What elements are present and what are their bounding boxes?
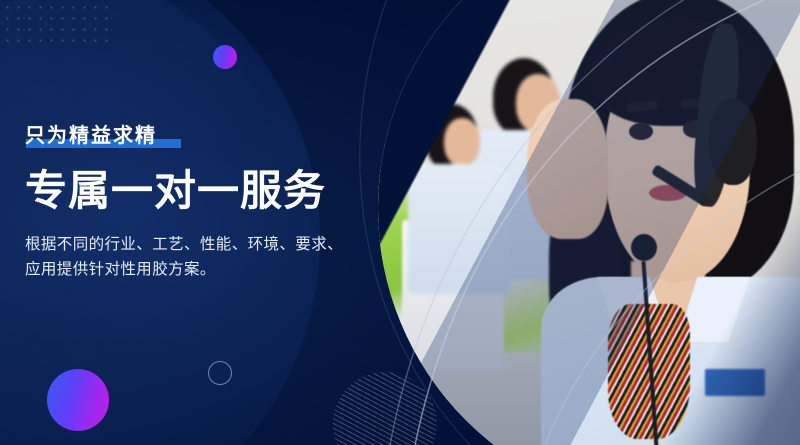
gradient-circle-small-icon <box>213 45 237 69</box>
body-text: 根据不同的行业、工艺、性能、环境、要求、 应用提供针对性用胶方案。 <box>25 232 375 282</box>
copy-block: 只为精益求精 专属一对一服务 根据不同的行业、工艺、性能、环境、要求、 应用提供… <box>25 122 375 282</box>
body-text-line-2: 应用提供针对性用胶方案。 <box>25 260 216 278</box>
outline-circle-icon <box>208 361 232 385</box>
body-text-line-1: 根据不同的行业、工艺、性能、环境、要求、 <box>25 235 343 253</box>
hero-photo: 就是 不努力就是淡季 <box>378 0 800 445</box>
promo-banner: 就是 不努力就是淡季 <box>0 0 800 445</box>
gradient-circle-large-icon <box>47 369 109 431</box>
dot-grid-top-left-icon <box>2 2 114 50</box>
page-title: 专属一对一服务 <box>25 167 375 214</box>
eyebrow-text: 只为精益求精 <box>25 122 157 149</box>
photo-navy-wedge-secondary <box>378 0 800 445</box>
eyebrow-wrapper: 只为精益求精 <box>25 122 157 149</box>
hero-photo-image: 就是 不努力就是淡季 <box>378 0 800 445</box>
